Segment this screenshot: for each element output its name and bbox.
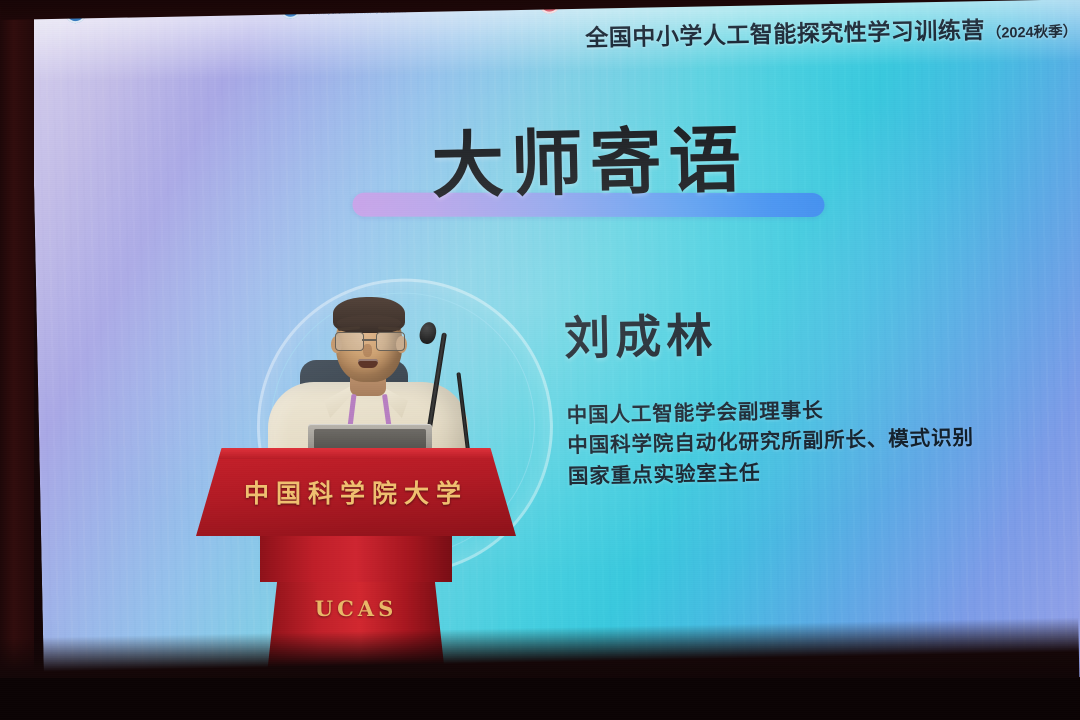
foreground-subject: 中国科学院大学 UCAS [0, 0, 1080, 720]
podium-acronym-label: UCAS [262, 596, 450, 621]
podium-column-upper [260, 536, 452, 582]
nose [363, 344, 372, 357]
podium-institution-label: 中国科学院大学 [196, 474, 516, 510]
lens-left [335, 332, 364, 351]
glasses-bridge [362, 339, 376, 341]
presentation-photo: AI 中国人工智能学会 ☸ 中国科学院大学 University of Chin… [0, 0, 1080, 720]
screen-left-edge [0, 0, 34, 720]
stage-floor [0, 678, 1080, 720]
lens-right [376, 332, 405, 351]
podium-front-panel: 中国科学院大学 [196, 448, 516, 536]
mouth [358, 359, 378, 368]
